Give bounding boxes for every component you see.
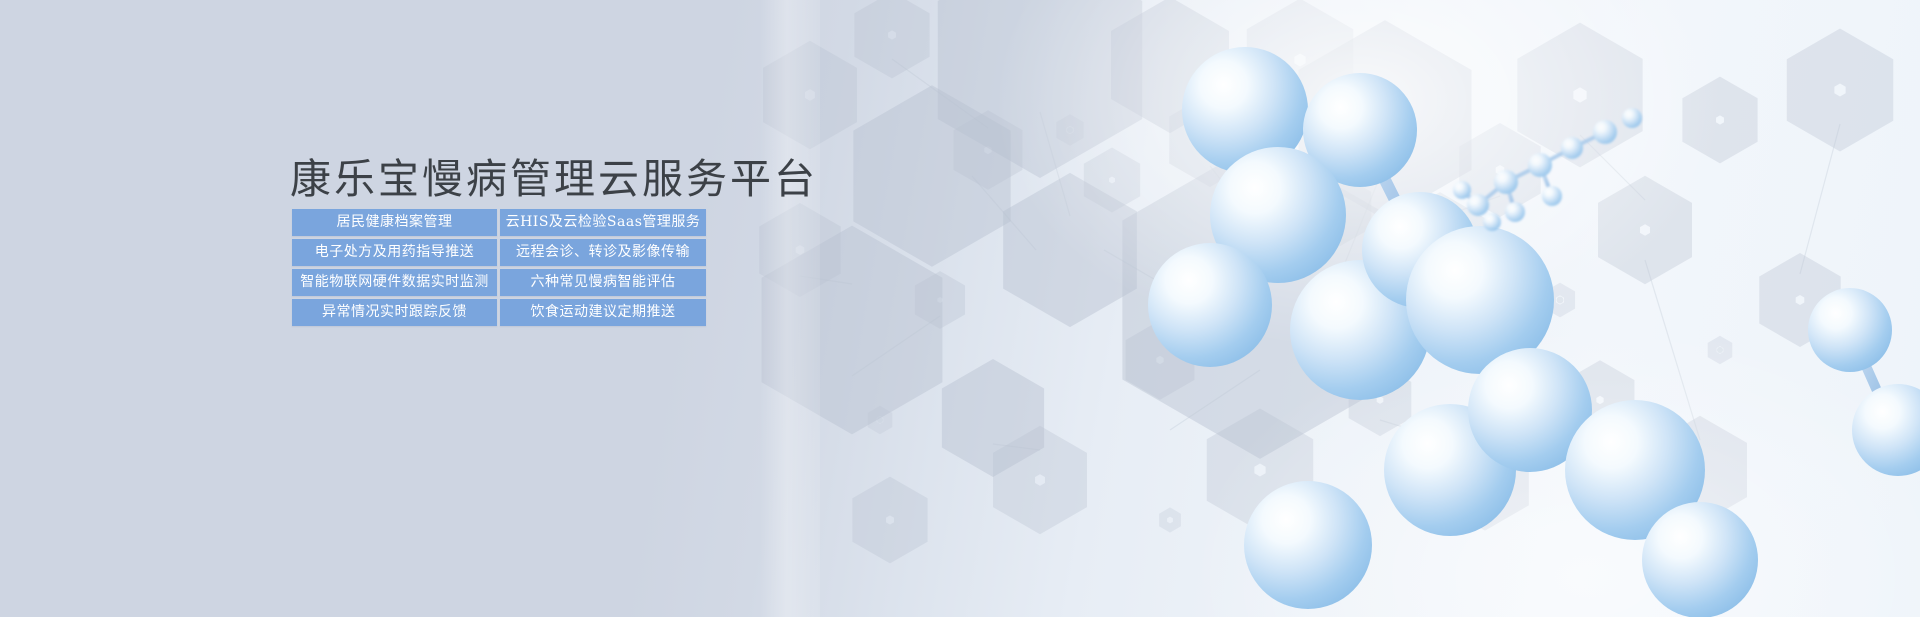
feature-item-diet-exercise-advice[interactable]: 饮食运动建议定期推送 [500, 299, 706, 326]
feature-item-cloud-his-lab-saas[interactable]: 云HIS及云检验Saas管理服务 [500, 209, 706, 236]
feature-item-chronic-disease-assessment[interactable]: 六种常见慢病智能评估 [500, 269, 706, 296]
feature-item-resident-health-records[interactable]: 居民健康档案管理 [292, 209, 497, 236]
molecule-sphere-decoration [1060, 0, 1920, 617]
feature-grid: 居民健康档案管理 云HIS及云检验Saas管理服务 电子处方及用药指导推送 远程… [292, 209, 706, 326]
feature-item-eprescription-guidance[interactable]: 电子处方及用药指导推送 [292, 239, 497, 266]
banner-content: 康乐宝慢病管理云服务平台 居民健康档案管理 云HIS及云检验Saas管理服务 电… [0, 0, 780, 617]
feature-item-anomaly-tracking[interactable]: 异常情况实时跟踪反馈 [292, 299, 497, 326]
feature-item-iot-realtime-monitoring[interactable]: 智能物联网硬件数据实时监测 [292, 269, 497, 296]
page-title: 康乐宝慢病管理云服务平台 [290, 145, 818, 205]
feature-item-remote-consultation[interactable]: 远程会诊、转诊及影像传输 [500, 239, 706, 266]
banner-hero: 康乐宝慢病管理云服务平台 居民健康档案管理 云HIS及云检验Saas管理服务 电… [0, 0, 1920, 617]
